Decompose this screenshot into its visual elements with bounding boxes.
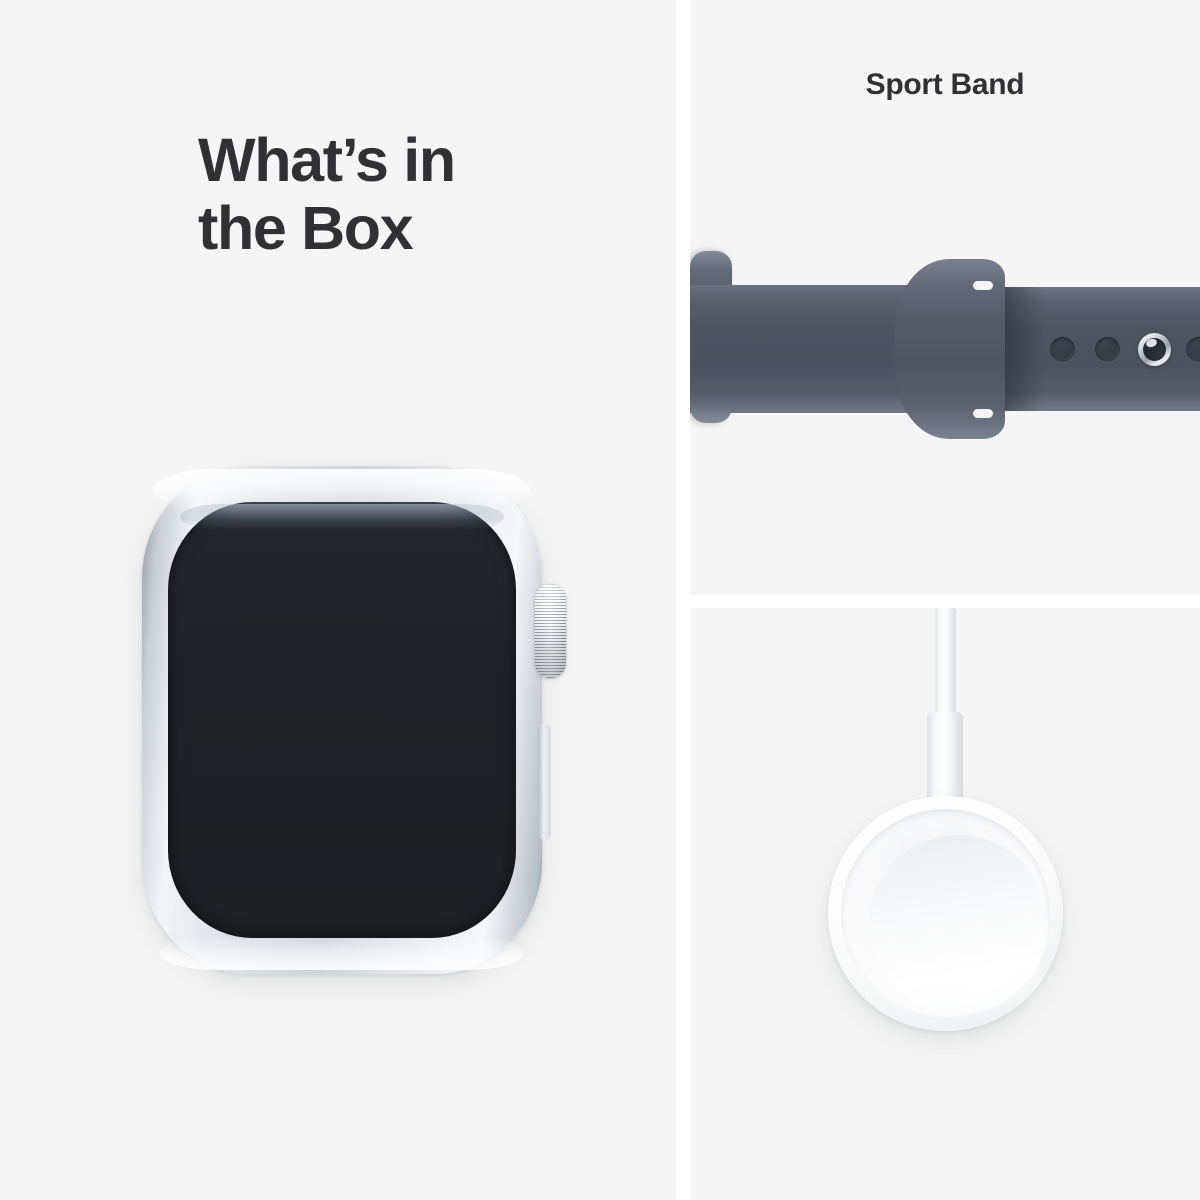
sport-band-hole-2	[1095, 337, 1120, 362]
charger-puck-rim	[841, 809, 1050, 1018]
charger-puck-highlight	[921, 955, 1053, 1015]
sport-band-loop-shadow	[1005, 287, 1045, 411]
charger-puck	[828, 796, 1063, 1031]
watch-digital-crown	[535, 584, 566, 678]
whats-in-the-box-product-image: What’s in the Box Sport Band	[0, 0, 1200, 1200]
sport-band-illustration	[690, 251, 1200, 447]
charger-cable	[935, 608, 956, 720]
panel-sport-band: Sport Band	[690, 0, 1200, 595]
sport-band-pin-hole	[1138, 333, 1171, 366]
watch-display-reflection	[180, 504, 504, 530]
panel-charging-cable: USB-C Magnetic Charging Cable	[690, 608, 1200, 1200]
page-title-line-2: the Box	[198, 194, 412, 262]
page-title: What’s in the Box	[198, 126, 598, 263]
apple-watch-illustration	[142, 466, 572, 974]
sport-band-title: Sport Band	[690, 68, 1200, 102]
watch-digital-crown-shading	[535, 584, 566, 678]
watch-case	[142, 466, 542, 974]
watch-case-bottom-highlight	[160, 936, 524, 970]
panel-whats-in-the-box: What’s in the Box	[0, 0, 676, 1200]
sport-band-hole-1	[1050, 337, 1075, 362]
charger-puck-charging-surface	[869, 835, 1048, 1014]
sport-band-notch-top	[973, 281, 993, 290]
sport-band-notch-bottom	[973, 409, 993, 418]
usb-c-magnetic-charger-illustration	[690, 608, 1200, 1038]
page-title-line-1: What’s in	[198, 126, 455, 194]
watch-side-button	[538, 724, 551, 840]
watch-display	[168, 502, 516, 938]
